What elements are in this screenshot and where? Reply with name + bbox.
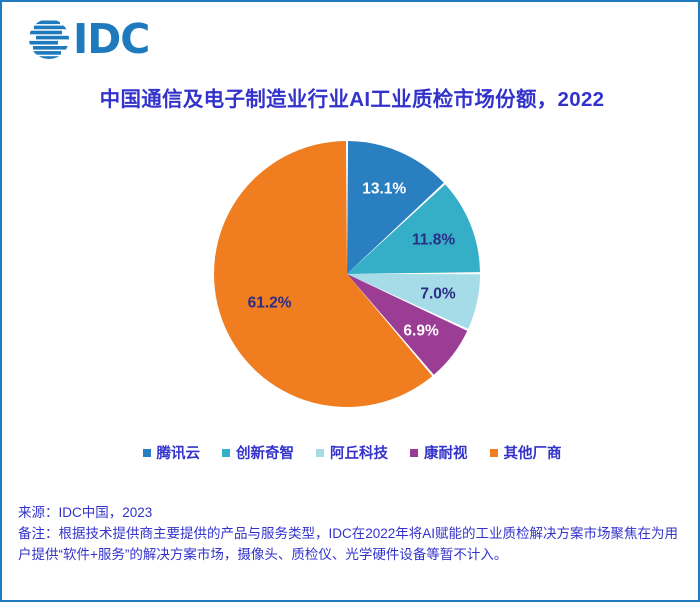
legend-swatch-icon bbox=[410, 449, 418, 457]
footer: 来源：IDC中国，2023 备注：根据技术提供商主要提供的产品与服务类型，IDC… bbox=[18, 502, 690, 565]
source-line: 来源：IDC中国，2023 bbox=[18, 502, 690, 523]
legend-item[interactable]: 创新奇智 bbox=[222, 442, 294, 463]
legend-item[interactable]: 其他厂商 bbox=[490, 442, 562, 463]
pie-slice-label: 6.9% bbox=[403, 322, 439, 339]
idc-globe-icon bbox=[28, 18, 70, 60]
slide-canvas: IDC 中国通信及电子制造业行业AI工业质检市场份额，2022 13.1%11.… bbox=[0, 0, 700, 602]
legend-swatch-icon bbox=[143, 449, 151, 457]
idc-logo: IDC bbox=[28, 16, 149, 62]
legend-label: 腾讯云 bbox=[157, 442, 201, 463]
pie-slice-label: 61.2% bbox=[248, 294, 292, 311]
chart-legend: 腾讯云创新奇智阿丘科技康耐视其他厂商 bbox=[2, 442, 700, 463]
legend-item[interactable]: 康耐视 bbox=[410, 442, 468, 463]
pie-slice-label: 11.8% bbox=[412, 232, 455, 249]
legend-swatch-icon bbox=[316, 449, 324, 457]
legend-swatch-icon bbox=[222, 449, 230, 457]
idc-wordmark: IDC bbox=[73, 18, 149, 60]
page-title: 中国通信及电子制造业行业AI工业质检市场份额，2022 bbox=[2, 82, 700, 112]
legend-label: 其他厂商 bbox=[504, 442, 562, 463]
legend-item[interactable]: 阿丘科技 bbox=[316, 442, 388, 463]
pie-slice-label: 13.1% bbox=[362, 181, 406, 198]
pie-slice-group bbox=[214, 141, 480, 407]
pie-chart-svg: 13.1%11.8%7.0%6.9%61.2% bbox=[209, 136, 485, 412]
note-line: 备注：根据技术提供商主要提供的产品与服务类型，IDC在2022年将AI赋能的工业… bbox=[18, 523, 690, 565]
legend-label: 创新奇智 bbox=[236, 442, 294, 463]
legend-item[interactable]: 腾讯云 bbox=[143, 442, 201, 463]
legend-label: 康耐视 bbox=[424, 442, 468, 463]
legend-label: 阿丘科技 bbox=[330, 442, 388, 463]
legend-swatch-icon bbox=[490, 449, 498, 457]
pie-chart: 13.1%11.8%7.0%6.9%61.2% bbox=[209, 136, 485, 412]
pie-slice-label: 7.0% bbox=[420, 286, 456, 303]
